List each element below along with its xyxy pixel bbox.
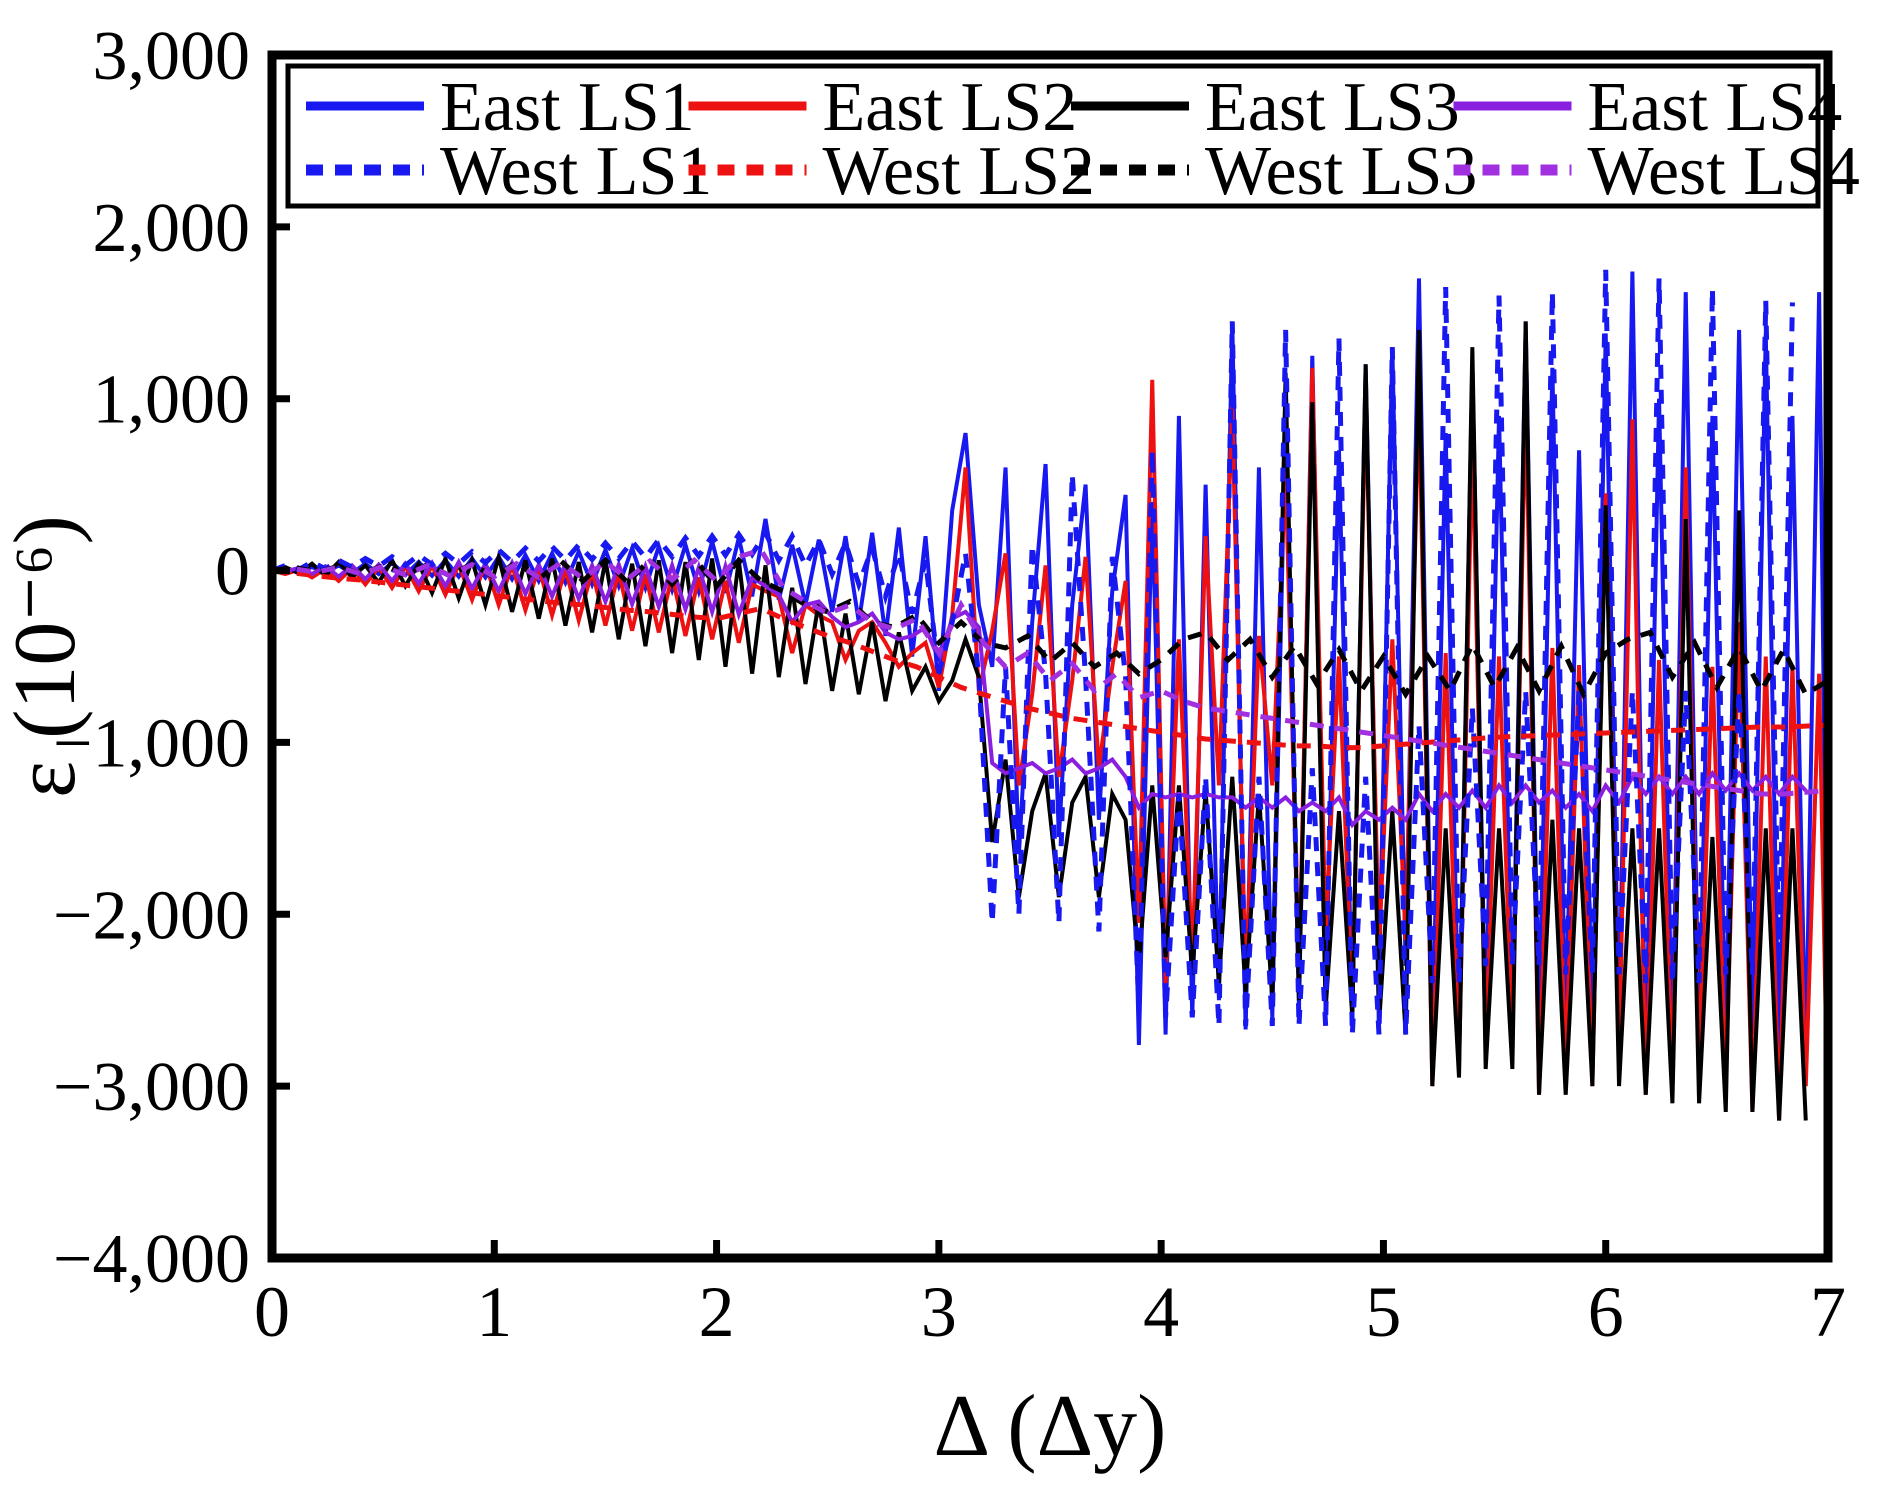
- legend-label-west_ls1: West LS1: [440, 133, 712, 210]
- strain-line-chart: 012345673,0002,0001,0000−1,000−2,000−3,0…: [0, 0, 1896, 1497]
- legend-label-west_ls2: West LS2: [823, 133, 1095, 210]
- x-tick-label: 6: [1588, 1272, 1624, 1352]
- x-tick-label: 3: [921, 1272, 957, 1352]
- x-tick-label: 1: [476, 1272, 512, 1352]
- y-tick-label: 3,000: [93, 18, 251, 95]
- y-axis-title: ε (10⁻⁶): [0, 515, 94, 798]
- legend-label-west_ls4: West LS4: [1588, 133, 1860, 210]
- y-tick-label: 2,000: [93, 190, 251, 267]
- legend-label-west_ls3: West LS3: [1205, 133, 1477, 210]
- x-tick-label: 0: [254, 1272, 290, 1352]
- y-tick-label: −4,000: [53, 1221, 250, 1298]
- x-axis-title: Δ (Δy): [934, 1378, 1167, 1475]
- x-tick-label: 7: [1810, 1272, 1846, 1352]
- x-tick-label: 5: [1365, 1272, 1401, 1352]
- y-tick-label: 0: [215, 534, 250, 611]
- y-tick-label: −2,000: [53, 877, 250, 954]
- chart-root: 012345673,0002,0001,0000−1,000−2,000−3,0…: [0, 0, 1896, 1497]
- chart-legend[interactable]: East LS1East LS2East LS3East LS4West LS1…: [288, 66, 1860, 210]
- y-tick-label: −3,000: [53, 1049, 250, 1126]
- x-tick-label: 4: [1143, 1272, 1179, 1352]
- y-tick-label: 1,000: [93, 362, 251, 439]
- x-tick-label: 2: [699, 1272, 735, 1352]
